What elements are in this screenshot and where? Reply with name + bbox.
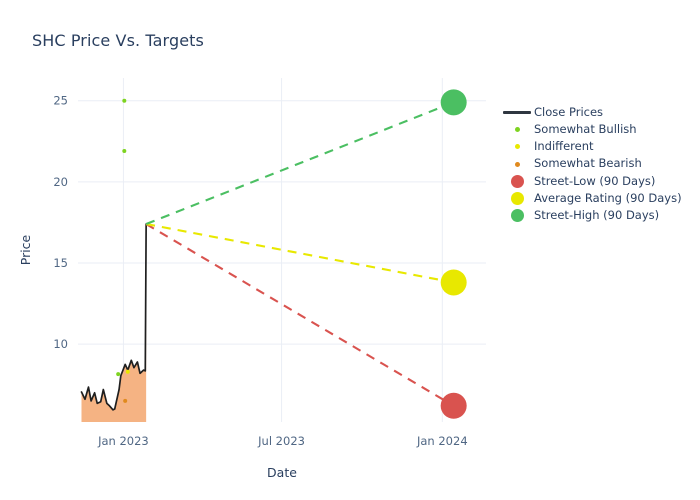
y-tick-label: 15 (53, 256, 68, 270)
chart-legend: Close PricesSomewhat BullishIndifferentS… (500, 104, 696, 224)
y-tick-label: 25 (53, 94, 68, 108)
legend-line-swatch (500, 111, 534, 113)
y-tick-label: 10 (53, 337, 68, 351)
plot-area: 10152025Jan 2023Jul 2023Jan 2024DatePric… (0, 0, 700, 500)
legend-dot-icon (511, 192, 524, 205)
x-tick-label: Jan 2024 (416, 434, 468, 448)
legend-item[interactable]: Street-High (90 Days) (500, 207, 696, 224)
legend-dot-icon (511, 209, 524, 222)
legend-item-label: Somewhat Bearish (534, 158, 642, 170)
legend-item-label: Average Rating (90 Days) (534, 193, 682, 205)
x-axis-title: Date (267, 465, 297, 480)
scatter-point[interactable] (123, 399, 127, 403)
x-tick-label: Jul 2023 (257, 434, 305, 448)
legend-item[interactable]: Average Rating (90 Days) (500, 190, 696, 207)
legend-line-icon (503, 111, 531, 113)
scatter-point[interactable] (116, 372, 120, 376)
series-group (81, 89, 466, 422)
target-trend-line (146, 224, 454, 282)
legend-item[interactable]: Somewhat Bullish (500, 121, 696, 138)
legend-dot-icon (511, 175, 524, 188)
legend-item-label: Indifferent (534, 141, 594, 153)
legend-item-label: Street-High (90 Days) (534, 210, 659, 222)
y-axis-title: Price (18, 234, 33, 265)
legend-dot-swatch (500, 127, 534, 132)
legend-item-label: Close Prices (534, 107, 603, 119)
legend-dot-swatch (500, 162, 534, 167)
legend-item-label: Somewhat Bullish (534, 124, 637, 136)
target-marker[interactable] (441, 393, 467, 419)
axis-labels: 10152025Jan 2023Jul 2023Jan 2024DatePric… (18, 94, 468, 480)
target-trend-line (146, 224, 454, 406)
scatter-point[interactable] (122, 99, 126, 103)
legend-item[interactable]: Close Prices (500, 104, 696, 121)
scatter-point[interactable] (126, 370, 130, 374)
legend-item[interactable]: Street-Low (90 Days) (500, 173, 696, 190)
target-marker[interactable] (441, 89, 467, 115)
y-tick-label: 20 (53, 175, 68, 189)
close-price-area (81, 224, 146, 422)
legend-item[interactable]: Indifferent (500, 138, 696, 155)
legend-dot-icon (515, 127, 520, 132)
legend-item-label: Street-Low (90 Days) (534, 176, 655, 188)
legend-dot-swatch (500, 144, 534, 149)
legend-dot-swatch (500, 192, 534, 205)
legend-dot-swatch (500, 175, 534, 188)
chart-container: SHC Price Vs. Targets 10152025Jan 2023Ju… (0, 0, 700, 500)
x-tick-label: Jan 2023 (97, 434, 149, 448)
scatter-point[interactable] (122, 149, 126, 153)
legend-item[interactable]: Somewhat Bearish (500, 156, 696, 173)
legend-dot-icon (515, 144, 520, 149)
legend-dot-icon (515, 162, 520, 167)
target-trend-line (146, 102, 454, 224)
legend-dot-swatch (500, 209, 534, 222)
target-marker[interactable] (441, 269, 467, 295)
